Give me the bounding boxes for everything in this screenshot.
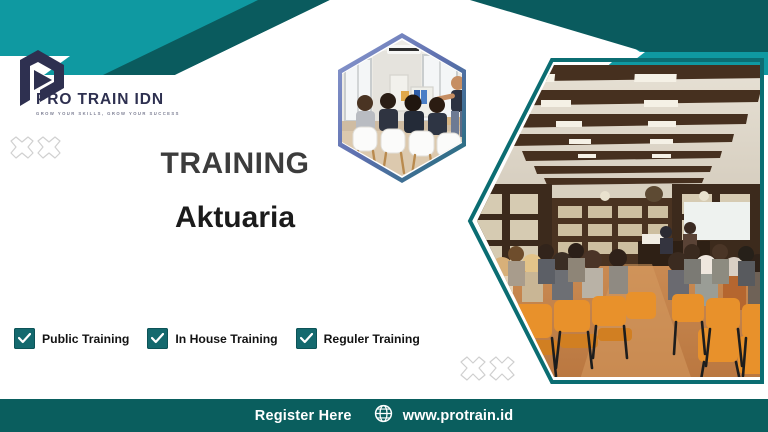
brand-logo: PRO TRAIN IDN GROW YOUR SKILLS, GROW YOU…: [12, 48, 192, 128]
headline-title: Aktuaria: [0, 202, 470, 234]
training-type-list: Public Training In House Training Regule…: [14, 328, 420, 349]
brand-name: PRO TRAIN IDN: [36, 92, 186, 108]
training-type-label: In House Training: [175, 332, 277, 346]
website-url[interactable]: www.protrain.id: [403, 408, 514, 424]
training-type-item[interactable]: Reguler Training: [296, 328, 420, 349]
training-poster: PRO TRAIN IDN GROW YOUR SKILLS, GROW YOU…: [0, 0, 768, 432]
globe-icon: [374, 404, 393, 428]
hexagon-photo-lecture-hall: [466, 56, 768, 386]
training-type-item[interactable]: Public Training: [14, 328, 129, 349]
training-type-item[interactable]: In House Training: [147, 328, 277, 349]
brand-tagline: GROW YOUR SKILLS, GROW YOUR SUCCESS: [36, 111, 186, 116]
hexagon-photo-training-session: [327, 31, 477, 185]
training-type-label: Reguler Training: [324, 332, 420, 346]
brand-logo-text: PRO TRAIN IDN GROW YOUR SKILLS, GROW YOU…: [36, 92, 186, 116]
website-group[interactable]: www.protrain.id: [374, 404, 514, 428]
training-type-label: Public Training: [42, 332, 129, 346]
footer-bar: Register Here www.protrain.id: [0, 399, 768, 432]
register-here-label[interactable]: Register Here: [255, 408, 352, 424]
check-icon[interactable]: [147, 328, 168, 349]
check-icon[interactable]: [14, 328, 35, 349]
check-icon[interactable]: [296, 328, 317, 349]
